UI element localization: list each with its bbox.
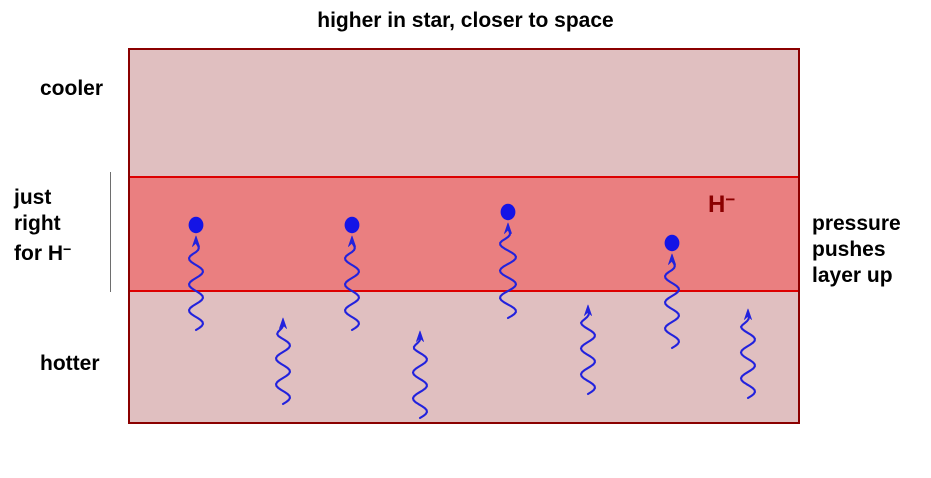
label-just-right-line3-charge: − <box>63 242 71 258</box>
label-just-right: just right for H− <box>14 185 71 267</box>
star-layer-box <box>128 48 800 424</box>
label-just-right-line3: for H− <box>14 237 71 267</box>
band-cooler <box>130 50 798 176</box>
label-pressure-note: pressure pushes layer up <box>812 211 901 289</box>
h-minus-species-label: H− <box>708 190 735 219</box>
diagram-canvas: higher in star, closer to space cooler j… <box>0 0 931 478</box>
label-just-right-line2: right <box>14 211 71 237</box>
band-hotter <box>130 292 798 424</box>
label-just-right-line1: just <box>14 185 71 211</box>
label-pressure-line2: pushes <box>812 237 901 263</box>
label-hotter: hotter <box>40 351 100 377</box>
h-minus-charge: − <box>725 190 735 209</box>
label-just-right-line3-text: for H <box>14 242 63 265</box>
just-right-bracket <box>110 172 111 292</box>
label-pressure-line1: pressure <box>812 211 901 237</box>
band-just-right <box>130 176 798 292</box>
top-caption: higher in star, closer to space <box>0 9 931 33</box>
label-cooler: cooler <box>40 76 103 102</box>
label-pressure-line3: layer up <box>812 263 901 289</box>
h-minus-symbol: H <box>708 191 725 218</box>
